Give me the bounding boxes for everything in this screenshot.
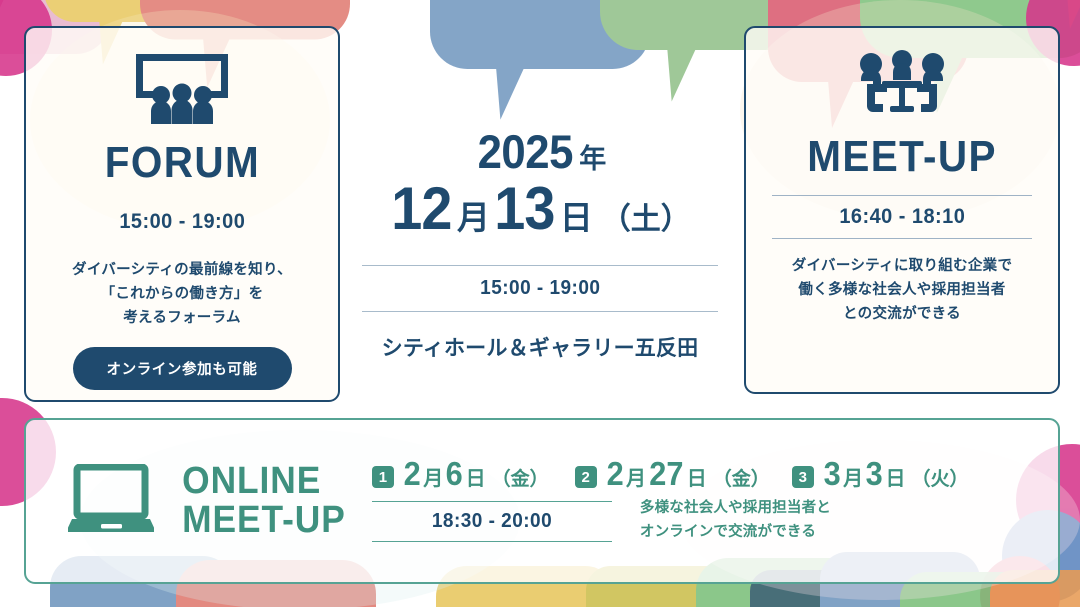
online-meetup-description-line: 多様な社会人や採用担当者と — [640, 497, 831, 521]
online-meetup-description: 多様な社会人や採用担当者と オンラインで交流ができる — [640, 497, 831, 545]
session-day-number: 27 — [649, 457, 683, 490]
divider — [362, 311, 718, 312]
event-time: 15:00 - 19:00 — [480, 266, 600, 311]
forum-description-line: 考えるフォーラム — [72, 307, 292, 331]
forum-description-line: 「これからの働き方」を — [72, 283, 292, 307]
event-year-number: 2025 — [477, 128, 572, 175]
event-date-block: 2025 年 12 月 13 日 （土） 15:00 - 19:00 シティホー… — [360, 128, 720, 362]
event-month-number: 12 — [392, 179, 452, 239]
session-weekday: （火） — [911, 470, 968, 489]
session-month-unit: 月 — [423, 469, 443, 489]
online-meetup-time: 18:30 - 20:00 — [378, 502, 606, 541]
session-month-unit: 月 — [626, 469, 646, 489]
forum-description-line: ダイバーシティの最前線を知り、 — [72, 259, 292, 283]
session-month-number: 2 — [404, 457, 421, 490]
session-day-unit: 日 — [466, 469, 486, 489]
session-date-1: 1 2 月 6 日 （金） — [372, 457, 549, 492]
online-meetup-title: ONLINE MEET-UP — [182, 462, 346, 540]
session-weekday: （金） — [492, 470, 549, 489]
online-meetup-bar: ONLINE MEET-UP 1 2 月 6 日 （金） 2 2 月 27 — [24, 418, 1060, 584]
meetup-description-line: ダイバーシティに取り組む企業で — [792, 255, 1013, 279]
online-meetup-title-line1: ONLINE — [182, 462, 346, 501]
presentation-audience-icon — [130, 50, 234, 131]
session-number-badge: 1 — [372, 466, 394, 488]
session-number-badge: 2 — [575, 466, 597, 488]
session-month-number: 2 — [606, 457, 623, 490]
divider — [772, 238, 1032, 239]
forum-card: FORUM 15:00 - 19:00 ダイバーシティの最前線を知り、 「これか… — [24, 26, 340, 402]
laptop-icon — [68, 464, 154, 539]
session-number-badge: 3 — [792, 466, 814, 488]
meetup-card: MEET-UP 16:40 - 18:10 ダイバーシティに取り組む企業で 働く… — [744, 26, 1060, 394]
session-day-number: 6 — [446, 457, 463, 490]
forum-description: ダイバーシティの最前線を知り、 「これからの働き方」を 考えるフォーラム — [72, 259, 292, 331]
online-meetup-title-line2: MEET-UP — [182, 501, 346, 540]
session-day-unit: 日 — [885, 469, 905, 489]
meetup-time: 16:40 - 18:10 — [839, 196, 965, 238]
session-month-unit: 月 — [843, 469, 863, 489]
session-weekday: （金） — [713, 470, 770, 489]
forum-time: 15:00 - 19:00 — [119, 201, 245, 243]
session-date-2: 2 2 月 27 日 （金） — [575, 457, 770, 492]
session-date-3: 3 3 月 3 日 （火） — [792, 457, 969, 492]
session-day-unit: 日 — [687, 469, 707, 489]
event-year-unit: 年 — [579, 146, 606, 173]
forum-title: FORUM — [104, 141, 259, 185]
meetup-description-line: 働く多様な社会人や採用担当者 — [792, 279, 1013, 303]
event-day-unit: 日 — [560, 201, 593, 234]
meetup-title: MEET-UP — [807, 135, 997, 179]
event-year: 2025 年 — [474, 128, 607, 175]
divider — [372, 541, 612, 542]
online-participation-badge: オンライン参加も可能 — [73, 347, 292, 390]
session-month-number: 3 — [823, 457, 840, 490]
event-month-day: 12 月 13 日 （土） — [389, 179, 691, 239]
event-day-number: 13 — [494, 179, 554, 239]
online-meetup-description-line: オンラインで交流ができる — [640, 521, 831, 545]
session-day-number: 3 — [866, 457, 883, 490]
meetup-description: ダイバーシティに取り組む企業で 働く多様な社会人や採用担当者 との交流ができる — [792, 255, 1013, 327]
meetup-description-line: との交流ができる — [792, 303, 1013, 327]
people-at-table-icon — [849, 50, 955, 125]
online-meetup-session-dates: 1 2 月 6 日 （金） 2 2 月 27 日 （金） — [372, 457, 1058, 492]
event-venue: シティホール＆ギャラリー五反田 — [382, 332, 699, 362]
event-month-unit: 月 — [457, 201, 490, 234]
event-weekday: （土） — [601, 205, 691, 235]
online-meetup-time-block: 18:30 - 20:00 — [372, 501, 612, 542]
